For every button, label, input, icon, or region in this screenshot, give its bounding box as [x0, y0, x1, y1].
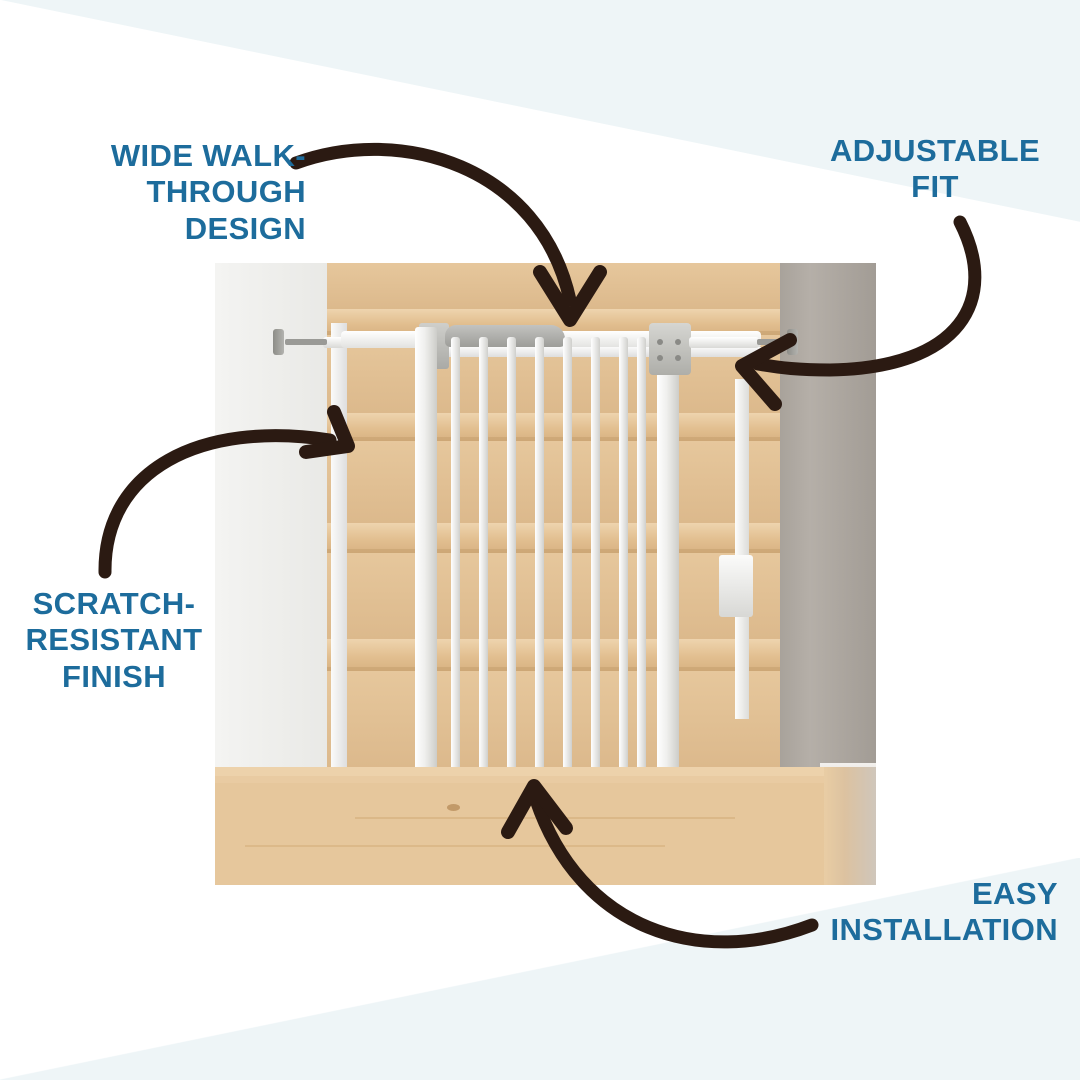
gate-hinge-block [649, 323, 691, 375]
gate-bar [507, 337, 516, 789]
callout-wide-walk-through: WIDE WALK-THROUGH DESIGN [56, 138, 306, 247]
gate-bar [637, 337, 646, 789]
gate-bar [451, 337, 460, 789]
wood-grain-line [355, 817, 735, 819]
wall-mount-arm-right [689, 337, 759, 348]
safety-gate [327, 323, 772, 823]
bottom-step-right-trim [824, 767, 876, 885]
callout-adjustable-fit: ADJUSTABLE FIT [806, 133, 1064, 206]
gate-post-left [415, 327, 437, 811]
wall-left [215, 263, 327, 823]
wood-knot [447, 804, 460, 811]
gate-bar [619, 337, 628, 789]
gate-bar [563, 337, 572, 789]
wall-mount-spindle-left [285, 339, 327, 345]
wall-mount-spindle-right [757, 339, 791, 345]
photo-scene [215, 263, 876, 885]
gate-extension-panel [735, 379, 749, 719]
gate-extension-tab [719, 555, 753, 617]
product-photo [215, 263, 876, 885]
callout-scratch-resistant: SCRATCH-RESISTANT FINISH [8, 586, 220, 695]
gate-left-frame [331, 323, 347, 823]
wall-mount-cap-left [273, 329, 284, 355]
gate-post-right [657, 327, 679, 811]
gate-bar [591, 337, 600, 789]
bottom-step [215, 767, 876, 885]
infographic-canvas: WIDE WALK-THROUGH DESIGN ADJUSTABLE FIT … [0, 0, 1080, 1080]
gate-bar [479, 337, 488, 789]
wood-grain-line [245, 845, 665, 847]
wall-mount-cap-right [787, 329, 798, 355]
gate-bar [535, 337, 544, 789]
callout-easy-installation: EASY INSTALLATION [802, 876, 1058, 949]
gate-latch-handle[interactable] [445, 325, 565, 347]
